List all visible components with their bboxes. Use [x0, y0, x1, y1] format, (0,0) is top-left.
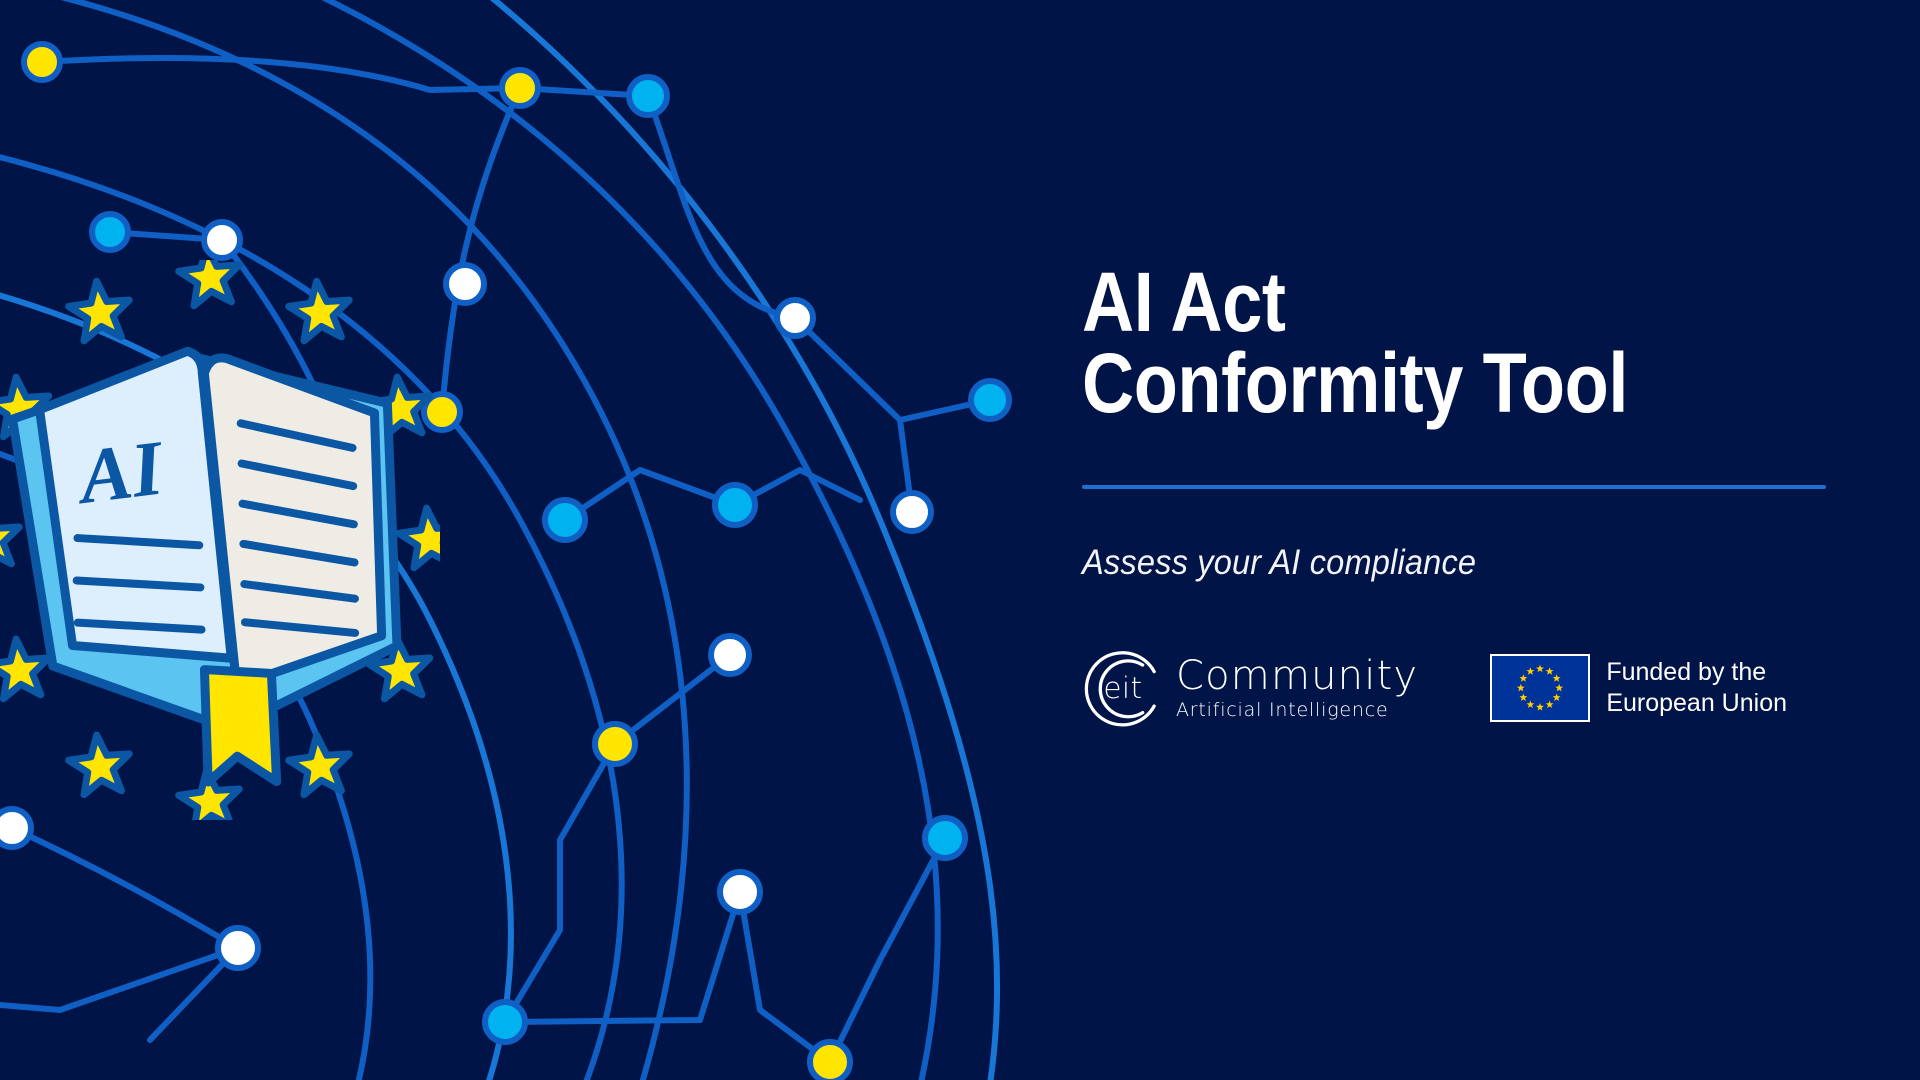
eu-caption-line-1: Funded by the: [1606, 658, 1766, 686]
eu-funding-logo: Funded by theEuropean Union: [1490, 654, 1787, 722]
network-node: [545, 500, 585, 540]
network-node: [218, 928, 258, 968]
network-node: [715, 485, 755, 525]
eu-star: [286, 732, 353, 796]
network-node: [893, 493, 931, 531]
eit-primary-label: Community: [1176, 656, 1418, 696]
network-node: [720, 872, 760, 912]
network-node: [92, 214, 128, 250]
network-node: [711, 636, 749, 674]
svg-text:AI: AI: [70, 423, 170, 520]
eu-star: [66, 278, 133, 342]
svg-text:eit: eit: [1103, 671, 1142, 705]
eu-star: [0, 505, 23, 569]
eu-flag-icon: [1490, 654, 1590, 722]
eu-star: [286, 278, 353, 342]
network-node: [925, 818, 965, 858]
eit-secondary-label: Artificial Intelligence: [1176, 701, 1418, 720]
network-node: [629, 77, 667, 115]
network-node: [502, 70, 538, 106]
eu-caption-line-2: European Union: [1606, 689, 1787, 717]
network-node: [485, 1002, 525, 1042]
eit-wordmark: Community Artificial Intelligence: [1176, 656, 1418, 720]
eu-funding-caption: Funded by theEuropean Union: [1606, 657, 1787, 718]
ai-book-illustration: AI: [0, 260, 440, 820]
network-node: [971, 381, 1009, 419]
network-node: [446, 265, 484, 303]
page-title: AI ActConformity Tool: [1082, 262, 1736, 425]
eit-community-logo: eit Community Artificial Intelligence: [1082, 647, 1418, 729]
eu-star: [176, 260, 243, 307]
page-title-line-1: AI Act: [1082, 255, 1285, 349]
network-node: [810, 1042, 850, 1080]
eu-star: [0, 636, 52, 700]
network-node: [777, 300, 813, 336]
network-node: [595, 724, 635, 764]
eu-star: [66, 732, 133, 796]
title-divider: [1082, 485, 1826, 489]
logo-row: eit Community Artificial Intelligence Fu…: [1082, 647, 1842, 729]
eit-circle-icon: eit: [1082, 647, 1164, 729]
page-subtitle: Assess your AI compliance: [1082, 543, 1789, 583]
network-node: [204, 222, 240, 258]
hero-panel: AI ActConformity Tool Assess your AI com…: [1082, 262, 1842, 729]
page-title-line-2: Conformity Tool: [1082, 336, 1628, 430]
network-node: [24, 44, 60, 80]
banner-canvas: .ln{fill:none;stroke:#0f5fc4;stroke-widt…: [0, 0, 1920, 1080]
eu-star: [396, 505, 440, 569]
